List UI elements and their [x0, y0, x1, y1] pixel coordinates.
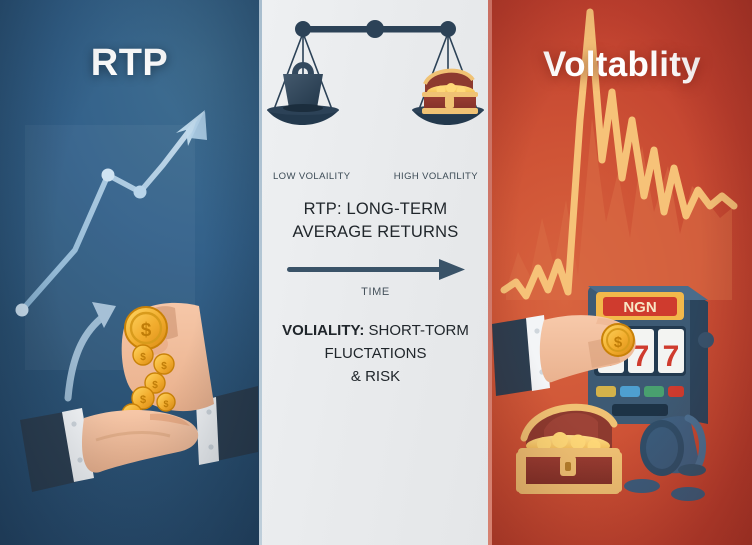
volatility-caption-line1: VOLIALITY: SHORT-TORM [259, 322, 492, 339]
volatility-caption-line2: FLUCTATIONS [259, 345, 492, 362]
rtp-caption-line2: AVERAGE RETURNS [259, 223, 492, 242]
treasure-chest-icon-small [422, 71, 478, 114]
scale-captions: LOW VOLAILITY HIGH VOLAПLITY [259, 171, 492, 182]
balance-scale-icon [267, 20, 484, 125]
volatility-panel: NGN 7 7 7 [492, 0, 752, 545]
comparison-panel: LOW VOLAILITY HIGH VOLAПLITY RTP: LONG-T… [259, 0, 492, 545]
rtp-caption-line1: RTP: LONG-TERM [259, 200, 492, 219]
time-axis-label: TIME [259, 286, 492, 298]
right-vignette [492, 0, 752, 545]
volatility-caption-rest: SHORT-TORM [364, 322, 468, 339]
left-vignette [0, 0, 259, 545]
volatility-caption-line3: & RISK [259, 368, 492, 385]
infographic-canvas: $ $ $ $ $ $ $ $ [0, 0, 752, 545]
center-illustration [259, 0, 492, 545]
rtp-panel: $ $ $ $ $ $ $ $ [0, 0, 259, 545]
high-volatility-label: HIGH VOLAПLITY [394, 171, 478, 182]
low-volatility-label: LOW VOLAILITY [273, 171, 351, 182]
volatility-caption-bold: VOLIALITY: [282, 322, 364, 339]
time-arrow [287, 259, 465, 280]
